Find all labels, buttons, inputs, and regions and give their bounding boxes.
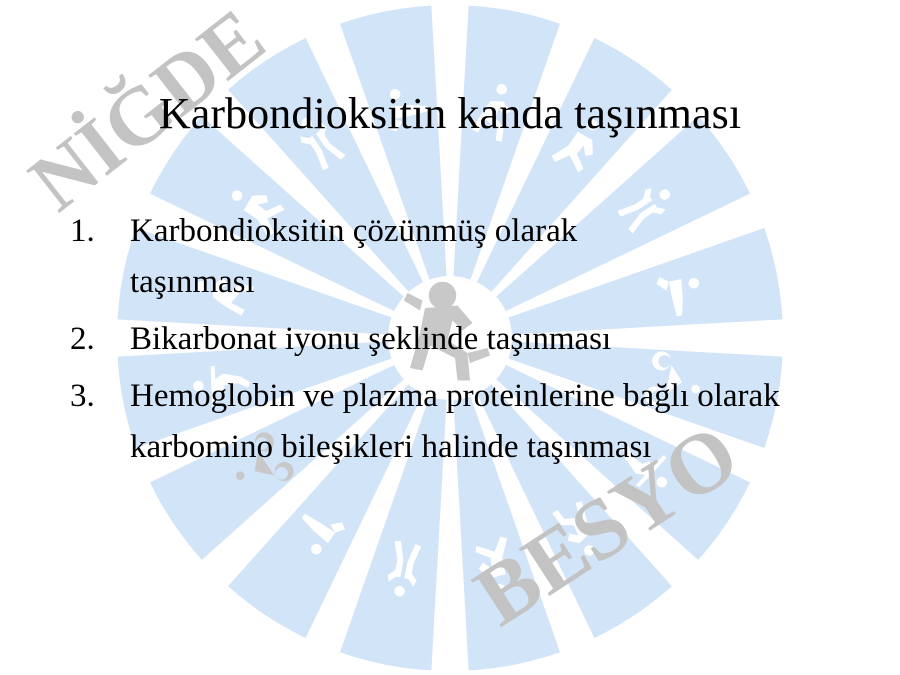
list-item-number: 2. — [70, 314, 130, 365]
page-title: Karbondioksitin kanda taşınması — [45, 88, 855, 140]
bullet-list: 1. Karbondioksitin çözünmüş olarak taşın… — [70, 206, 860, 479]
list-item: 3. Hemoglobin ve plazma proteinlerine ba… — [70, 371, 860, 473]
slide-content: Karbondioksitin kanda taşınması 1. Karbo… — [0, 0, 900, 675]
list-item-label: Hemoglobin ve plazma proteinlerine bağlı… — [130, 371, 820, 473]
list-item-label: Karbondioksitin çözünmüş olarak taşınmas… — [130, 206, 690, 308]
list-item-number: 1. — [70, 206, 130, 257]
list-item-number: 3. — [70, 371, 130, 422]
list-item-label: Bikarbonat iyonu şeklinde taşınması — [130, 314, 830, 365]
presentation-slide: NİĞDE BESYO Karbondioksitin kanda taşınm… — [0, 0, 900, 675]
list-item: 1. Karbondioksitin çözünmüş olarak taşın… — [70, 206, 860, 308]
list-item: 2. Bikarbonat iyonu şeklinde taşınması — [70, 314, 860, 365]
